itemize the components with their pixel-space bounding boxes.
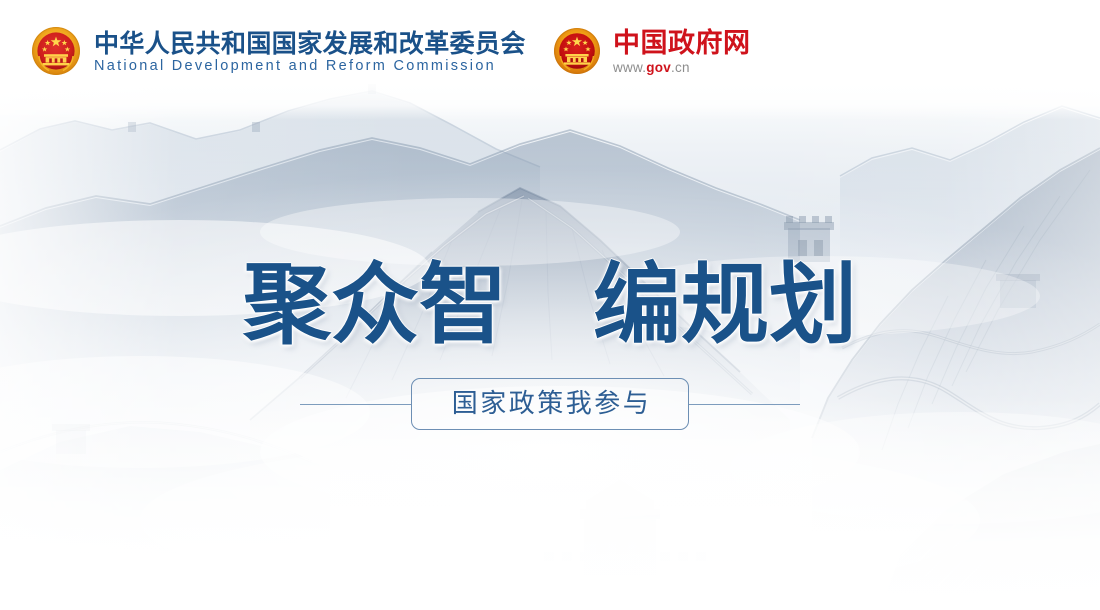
ndrc-title-cn: 中华人民共和国国家发展和改革委员会	[94, 30, 526, 57]
divider-line-left	[300, 404, 411, 405]
gov-url-suffix: .cn	[671, 60, 690, 75]
national-emblem-icon	[30, 26, 82, 78]
gov-cn-logo[interactable]: 中国政府网 www.gov.cn	[552, 27, 751, 77]
divider-line-right	[689, 404, 800, 405]
ndrc-title-en: National Development and Reform Commissi…	[94, 58, 526, 75]
gov-title-cn: 中国政府网	[613, 29, 751, 58]
gov-url-prefix: www.	[613, 60, 646, 75]
subtitle-row: 国家政策我参与	[0, 378, 1100, 430]
ndrc-logo[interactable]: 中华人民共和国国家发展和改革委员会 National Development a…	[30, 26, 526, 78]
page-title: 聚众智编规划	[0, 258, 1100, 350]
gov-url-brand: gov	[646, 60, 671, 75]
poster-stage: 中华人民共和国国家发展和改革委员会 National Development a…	[0, 0, 1100, 610]
title-part-2: 编规划	[593, 252, 857, 356]
subtitle-badge[interactable]: 国家政策我参与	[411, 378, 689, 430]
header-bar: 中华人民共和国国家发展和改革委员会 National Development a…	[0, 0, 1100, 105]
subtitle-text: 国家政策我参与	[449, 390, 652, 418]
gov-url: www.gov.cn	[613, 60, 751, 76]
national-emblem-icon	[552, 27, 602, 77]
title-part-1: 聚众智	[243, 252, 507, 356]
